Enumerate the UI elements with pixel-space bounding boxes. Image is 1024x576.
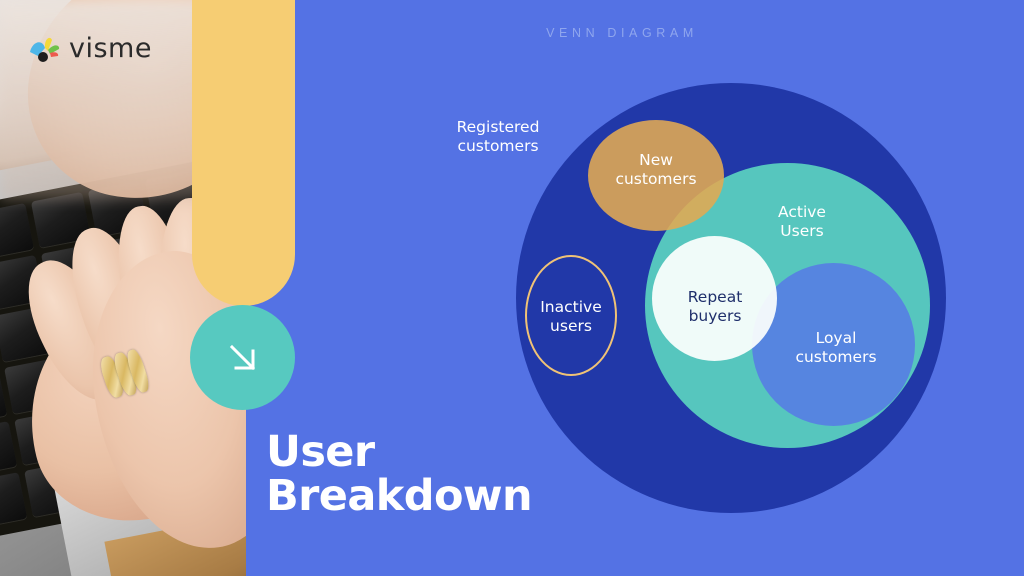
venn-label-active: Active Users <box>742 203 862 241</box>
venn-label-line: buyers <box>654 307 776 326</box>
visme-fan-logo-icon <box>28 34 62 64</box>
venn-label-repeat: Repeat buyers <box>654 288 776 326</box>
venn-label-line: customers <box>775 348 897 367</box>
venn-label-line: Registered <box>432 118 564 137</box>
arrow-down-right-icon <box>220 335 266 381</box>
venn-label-registered: Registered customers <box>432 118 564 156</box>
page-title: User Breakdown <box>266 430 532 519</box>
yellow-pill-shape <box>192 0 295 306</box>
eyebrow-label: VENN DIAGRAM <box>0 26 1024 40</box>
venn-label-loyal: Loyal customers <box>775 329 897 367</box>
page-title-line2: Breakdown <box>266 474 532 518</box>
slide: visme VENN DIAGRAM User Breakdown Regist… <box>0 0 1024 576</box>
venn-label-inactive: Inactive users <box>515 298 627 336</box>
venn-label-line: Active <box>742 203 862 222</box>
venn-label-line: Repeat <box>654 288 776 307</box>
venn-label-line: customers <box>432 137 564 156</box>
teal-circle-shape[interactable] <box>190 305 295 410</box>
venn-label-new: New customers <box>590 151 722 189</box>
visme-wordmark: visme <box>69 33 152 64</box>
venn-label-line: customers <box>590 170 722 189</box>
venn-label-line: Users <box>742 222 862 241</box>
page-title-line1: User <box>266 430 532 474</box>
visme-logo[interactable]: visme <box>28 33 152 64</box>
venn-label-line: Loyal <box>775 329 897 348</box>
venn-label-line: users <box>515 317 627 336</box>
venn-label-line: Inactive <box>515 298 627 317</box>
venn-label-line: New <box>590 151 722 170</box>
